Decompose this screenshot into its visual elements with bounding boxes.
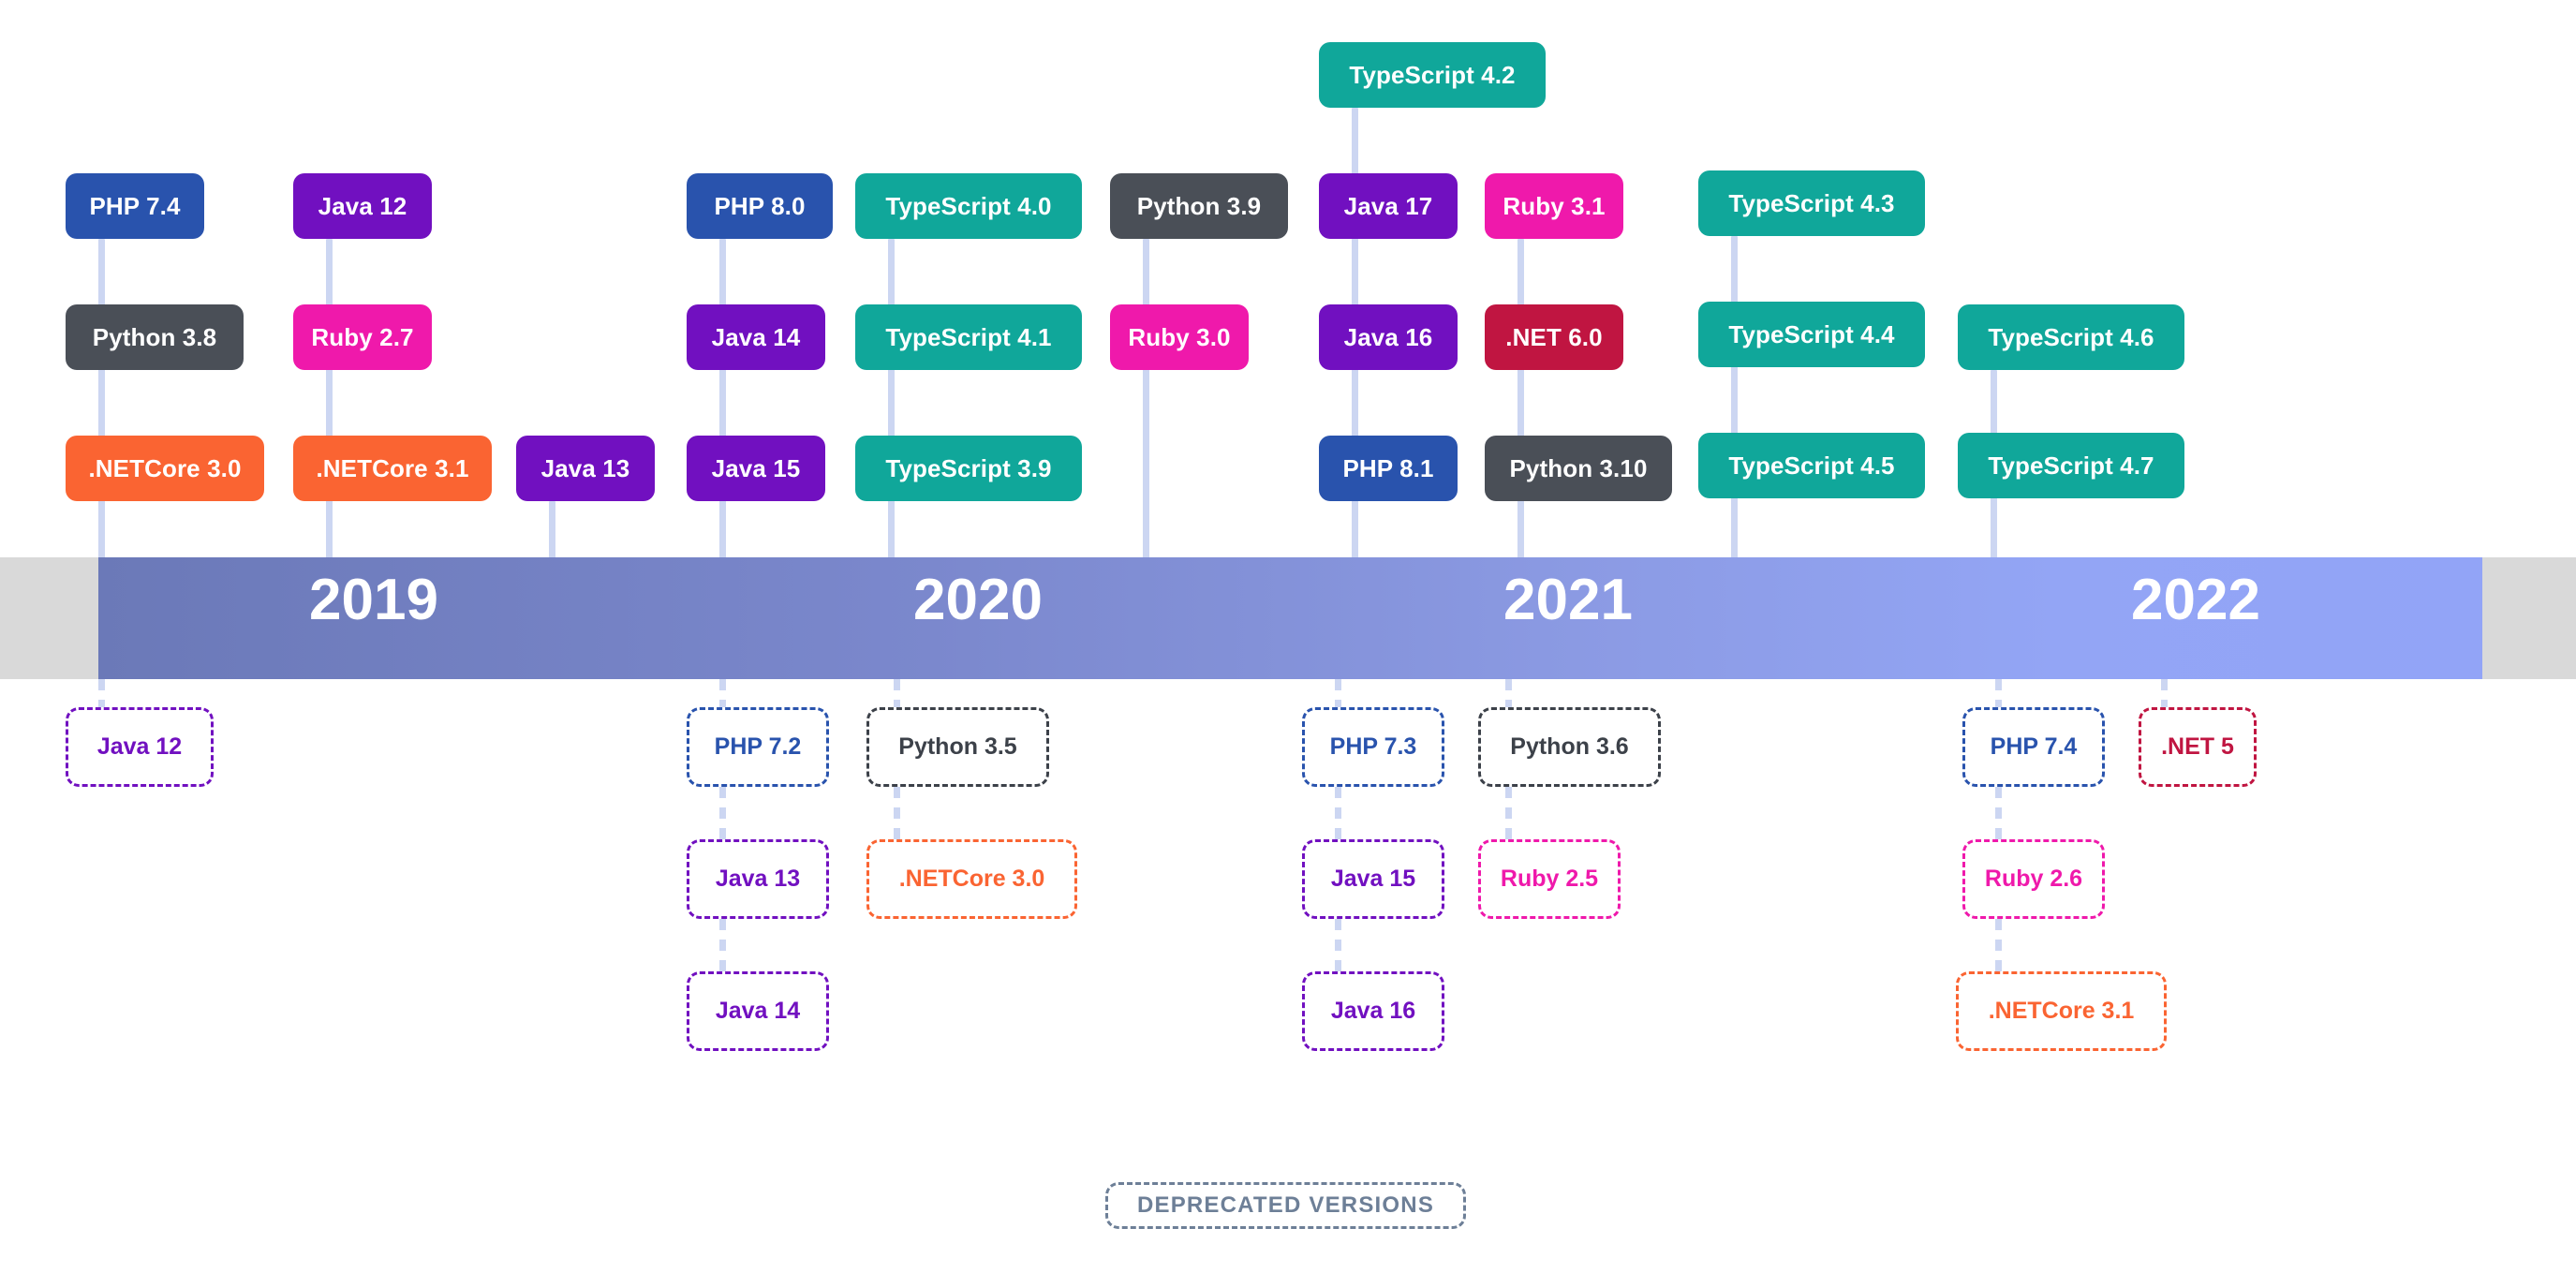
deprecated-pill[interactable]: Python 3.5 bbox=[866, 707, 1049, 787]
connector-line-dashed bbox=[1995, 679, 2002, 710]
timeline-year-2021: 2021 bbox=[1503, 571, 1633, 629]
deprecated-pill[interactable]: Java 16 bbox=[1302, 971, 1444, 1051]
connector-line-dashed bbox=[2161, 679, 2168, 710]
timeline-band-gradient bbox=[98, 557, 2482, 679]
deprecated-pill[interactable]: .NETCore 3.0 bbox=[866, 839, 1077, 919]
connector-line-dashed bbox=[1335, 679, 1341, 710]
connector-line-dashed bbox=[1335, 919, 1341, 974]
connector-line-dashed bbox=[719, 787, 726, 842]
release-pill[interactable]: Python 3.10 bbox=[1485, 436, 1672, 501]
release-pill[interactable]: Java 17 bbox=[1319, 173, 1458, 239]
connector-line bbox=[326, 501, 333, 558]
deprecated-pill[interactable]: .NETCore 3.1 bbox=[1956, 971, 2167, 1051]
connector-line-dashed bbox=[719, 679, 726, 710]
timeline-year-2022: 2022 bbox=[2131, 571, 2260, 629]
deprecated-pill[interactable]: PHP 7.4 bbox=[1962, 707, 2105, 787]
connector-line bbox=[1731, 498, 1738, 558]
release-pill[interactable]: .NETCore 3.0 bbox=[66, 436, 264, 501]
release-pill[interactable]: Ruby 2.7 bbox=[293, 304, 432, 370]
release-pill[interactable]: TypeScript 4.6 bbox=[1958, 304, 2184, 370]
connector-line bbox=[549, 501, 555, 558]
release-pill[interactable]: Java 16 bbox=[1319, 304, 1458, 370]
connector-line-dashed bbox=[1335, 787, 1341, 842]
timeline-year-2020: 2020 bbox=[913, 571, 1043, 629]
connector-line bbox=[1517, 501, 1524, 558]
deprecated-pill[interactable]: PHP 7.2 bbox=[687, 707, 829, 787]
release-pill[interactable]: TypeScript 4.2 bbox=[1319, 42, 1546, 108]
connector-line-dashed bbox=[894, 679, 900, 710]
release-pill[interactable]: Python 3.8 bbox=[66, 304, 244, 370]
connector-line bbox=[1991, 498, 1997, 558]
deprecated-pill[interactable]: Java 13 bbox=[687, 839, 829, 919]
connector-line bbox=[1143, 370, 1149, 558]
release-pill[interactable]: TypeScript 4.3 bbox=[1698, 170, 1925, 236]
connector-line-dashed bbox=[719, 919, 726, 974]
deprecated-pill[interactable]: .NET 5 bbox=[2139, 707, 2257, 787]
release-pill[interactable]: TypeScript 3.9 bbox=[855, 436, 1082, 501]
connector-line bbox=[1352, 501, 1358, 558]
release-pill[interactable]: .NET 6.0 bbox=[1485, 304, 1623, 370]
release-pill[interactable]: PHP 8.1 bbox=[1319, 436, 1458, 501]
connector-line-dashed bbox=[894, 787, 900, 842]
release-pill[interactable]: Ruby 3.0 bbox=[1110, 304, 1249, 370]
release-pill[interactable]: .NETCore 3.1 bbox=[293, 436, 492, 501]
release-pill[interactable]: TypeScript 4.0 bbox=[855, 173, 1082, 239]
connector-line-dashed bbox=[98, 679, 105, 710]
deprecated-pill[interactable]: Ruby 2.5 bbox=[1478, 839, 1621, 919]
connector-line bbox=[719, 501, 726, 558]
deprecated-pill[interactable]: Python 3.6 bbox=[1478, 707, 1661, 787]
connector-line bbox=[98, 501, 105, 558]
release-pill[interactable]: TypeScript 4.1 bbox=[855, 304, 1082, 370]
deprecated-pill[interactable]: Java 15 bbox=[1302, 839, 1444, 919]
connector-line-dashed bbox=[1505, 787, 1512, 842]
deprecated-pill[interactable]: Java 12 bbox=[66, 707, 214, 787]
connector-line-dashed bbox=[1995, 919, 2002, 974]
connector-line-dashed bbox=[1505, 679, 1512, 710]
deprecated-pill[interactable]: PHP 7.3 bbox=[1302, 707, 1444, 787]
release-pill[interactable]: TypeScript 4.7 bbox=[1958, 433, 2184, 498]
deprecated-pill[interactable]: Java 14 bbox=[687, 971, 829, 1051]
deprecated-versions-legend: DEPRECATED VERSIONS bbox=[1105, 1182, 1466, 1229]
release-pill[interactable]: TypeScript 4.4 bbox=[1698, 302, 1925, 367]
release-pill[interactable]: PHP 7.4 bbox=[66, 173, 204, 239]
release-pill[interactable]: TypeScript 4.5 bbox=[1698, 433, 1925, 498]
deprecated-pill[interactable]: Ruby 2.6 bbox=[1962, 839, 2105, 919]
release-pill[interactable]: Java 12 bbox=[293, 173, 432, 239]
connector-line bbox=[888, 501, 895, 558]
release-pill[interactable]: Java 13 bbox=[516, 436, 655, 501]
release-pill[interactable]: Python 3.9 bbox=[1110, 173, 1288, 239]
release-pill[interactable]: Java 14 bbox=[687, 304, 825, 370]
release-pill[interactable]: Ruby 3.1 bbox=[1485, 173, 1623, 239]
release-pill[interactable]: PHP 8.0 bbox=[687, 173, 833, 239]
connector-line-dashed bbox=[1995, 787, 2002, 842]
timeline-infographic: 2019202020212022 TypeScript 4.2PHP 7.4Ja… bbox=[0, 0, 2576, 1273]
timeline-year-2019: 2019 bbox=[309, 571, 438, 629]
release-pill[interactable]: Java 15 bbox=[687, 436, 825, 501]
